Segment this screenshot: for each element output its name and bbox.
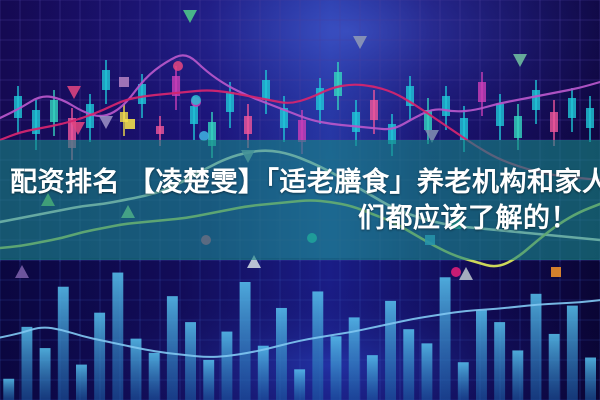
stock-chart-banner: 配资排名 【凌楚雯】「适老膳食」养老机构和家人 们都应该了解的！: [0, 0, 600, 400]
chart-background: [0, 0, 600, 400]
